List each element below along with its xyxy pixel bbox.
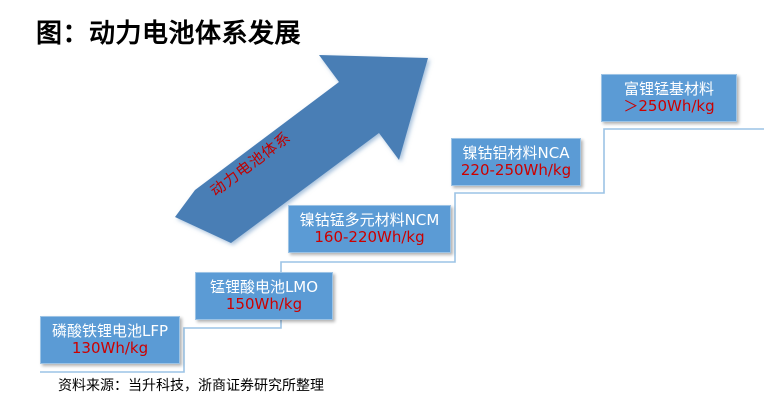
stage-value: ＞250Wh/kg [623, 98, 714, 115]
stage-name: 富锂锰基材料 [624, 81, 714, 98]
stage-box-lithium-rich-manganese[interactable]: 富锂锰基材料 ＞250Wh/kg [601, 74, 737, 122]
stage-box-lmo[interactable]: 锰锂酸电池LMO 150Wh/kg [195, 272, 333, 320]
stage-value: 150Wh/kg [226, 296, 302, 313]
stage-value: 130Wh/kg [72, 340, 148, 357]
stage-name: 磷酸铁锂电池LFP [52, 323, 168, 340]
stage-value: 220-250Wh/kg [461, 162, 571, 179]
stage-name: 锰锂酸电池LMO [210, 279, 318, 296]
stage-box-nca[interactable]: 镍钴铝材料NCA 220-250Wh/kg [451, 138, 581, 186]
source-note: 资料来源：当升科技，浙商证券研究所整理 [58, 375, 324, 395]
stage-box-ncm[interactable]: 镍钴锰多元材料NCM 160-220Wh/kg [288, 205, 451, 253]
slide-canvas: 图：动力电池体系发展 动力电池体系 磷酸铁锂电池LFP 130Wh/kg 锰锂酸… [0, 0, 764, 409]
stage-box-lfp[interactable]: 磷酸铁锂电池LFP 130Wh/kg [40, 316, 180, 364]
stage-name: 镍钴铝材料NCA [463, 145, 570, 162]
stage-value: 160-220Wh/kg [314, 229, 424, 246]
stage-name: 镍钴锰多元材料NCM [300, 212, 440, 229]
